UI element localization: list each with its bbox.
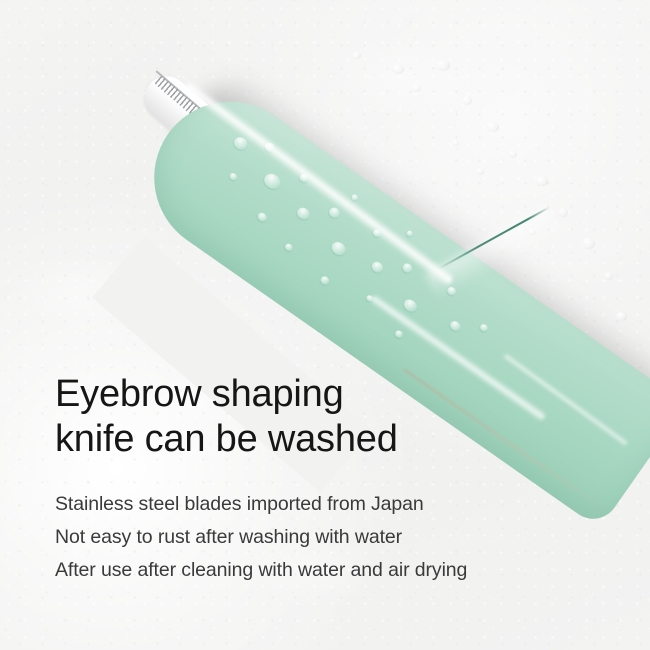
product-poster: Eyebrow shaping knife can be washed Stai…: [0, 0, 650, 650]
feature-item: After use after cleaning with water and …: [55, 554, 615, 587]
page-title: Eyebrow shaping knife can be washed: [55, 372, 615, 462]
feature-item: Stainless steel blades imported from Jap…: [55, 488, 615, 521]
marketing-copy: Eyebrow shaping knife can be washed Stai…: [55, 372, 615, 587]
feature-item: Not easy to rust after washing with wate…: [55, 521, 615, 554]
feature-list: Stainless steel blades imported from Jap…: [55, 488, 615, 587]
